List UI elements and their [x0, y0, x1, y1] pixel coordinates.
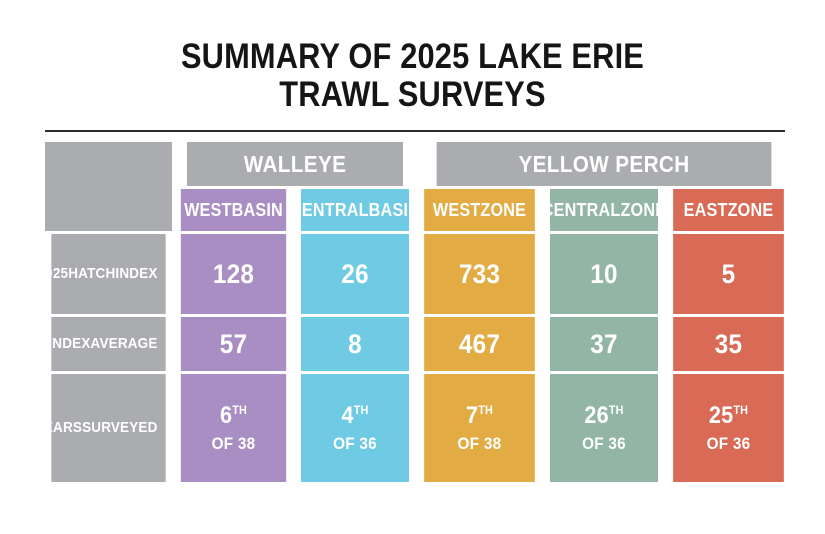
- column-header-line-1: CENTRAL: [301, 201, 369, 220]
- column-header-line-2: BASIN: [232, 201, 283, 220]
- rank-number: 4: [341, 402, 353, 429]
- column-header-perch-west-zone: WEST ZONE: [424, 189, 535, 231]
- rank-suffix: TH: [232, 403, 247, 417]
- table-cell-hatch-walleye-central: 26: [301, 234, 409, 314]
- rank-number: 25: [709, 402, 734, 429]
- column-header-line-1: CENTRAL: [550, 201, 620, 220]
- column-header-line-2: BASIN: [369, 201, 409, 220]
- row-label-line-3: INDEX: [115, 266, 157, 282]
- column-header-line-2: ZONE: [480, 201, 526, 220]
- table-cell-rank-perch-west: 7TH OF 38: [424, 374, 535, 482]
- table-cell-average-walleye-central: 8: [301, 317, 409, 371]
- column-header-line-1: WEST: [184, 201, 232, 220]
- table-cell-average-perch-west: 467: [424, 317, 535, 371]
- page-title: SUMMARY OF 2025 LAKE ERIE TRAWL SURVEYS: [50, 38, 776, 114]
- table-cell-rank-walleye-central: 4TH OF 36: [301, 374, 409, 482]
- table-cell-rank-walleye-west: 6TH OF 38: [181, 374, 286, 482]
- column-header-walleye-central-basin: CENTRAL BASIN: [301, 189, 409, 231]
- table-cell-rank-perch-east: 25TH OF 36: [673, 374, 784, 482]
- rank-suffix: TH: [354, 403, 369, 417]
- rank-of-total: OF 36: [707, 435, 751, 452]
- rank-ordinal: 7TH: [466, 404, 493, 428]
- table-cell-hatch-perch-central: 10: [550, 234, 658, 314]
- rank-of-total: OF 38: [212, 435, 256, 452]
- column-header-perch-central-zone: CENTRAL ZONE: [550, 189, 658, 231]
- row-label-index-average: INDEX AVERAGE: [51, 317, 165, 371]
- rank-of-total: OF 36: [333, 435, 377, 452]
- rank-number: 7: [466, 402, 478, 429]
- rank-of-total: OF 38: [458, 435, 502, 452]
- group-header-yellow-perch: YELLOW PERCH: [437, 142, 772, 186]
- column-header-line-2: ZONE: [620, 201, 658, 220]
- row-label-line-1: 2025: [51, 266, 68, 282]
- row-label-line-4: SURVEYED: [82, 420, 157, 436]
- column-header-walleye-west-basin: WEST BASIN: [181, 189, 286, 231]
- title-divider-rule: [45, 130, 785, 132]
- table-cell-hatch-perch-east: 5: [673, 234, 784, 314]
- column-header-line-2: ZONE: [728, 201, 774, 220]
- infographic-page: SUMMARY OF 2025 LAKE ERIE TRAWL SURVEYS …: [0, 0, 825, 534]
- table-corner-blank: [45, 142, 172, 231]
- table-cell-average-perch-central: 37: [550, 317, 658, 371]
- page-title-line-2: TRAWL SURVEYS: [50, 76, 776, 114]
- table-cell-average-walleye-west: 57: [181, 317, 286, 371]
- column-header-line-1: WEST: [433, 201, 481, 220]
- summary-table: WALLEYE YELLOW PERCH WEST BASIN CENTRAL …: [45, 142, 778, 485]
- group-header-walleye: WALLEYE: [187, 142, 403, 186]
- rank-suffix: TH: [609, 403, 624, 417]
- row-label-hatch-index: 2025 HATCH INDEX: [51, 234, 165, 314]
- rank-ordinal: 26TH: [584, 404, 623, 428]
- row-label-index-rank: INDEX RANK OF YEARS SURVEYED: [51, 374, 165, 482]
- rank-number: 6: [220, 402, 232, 429]
- row-label-line-2: HATCH: [68, 266, 115, 282]
- rank-of-total: OF 36: [582, 435, 626, 452]
- rank-suffix: TH: [478, 403, 493, 417]
- page-title-line-1: SUMMARY OF 2025 LAKE ERIE: [50, 38, 776, 76]
- column-header-line-1: EAST: [684, 201, 728, 220]
- rank-number: 26: [584, 402, 609, 429]
- row-label-line-3: YEARS: [51, 420, 82, 436]
- row-label-line-1: INDEX: [51, 336, 90, 352]
- rank-suffix: TH: [733, 403, 748, 417]
- rank-ordinal: 4TH: [341, 404, 368, 428]
- column-header-perch-east-zone: EAST ZONE: [673, 189, 784, 231]
- table-cell-average-perch-east: 35: [673, 317, 784, 371]
- rank-ordinal: 6TH: [220, 404, 247, 428]
- table-cell-hatch-walleye-west: 128: [181, 234, 286, 314]
- table-cell-rank-perch-central: 26TH OF 36: [550, 374, 658, 482]
- table-cell-hatch-perch-west: 733: [424, 234, 535, 314]
- rank-ordinal: 25TH: [709, 404, 748, 428]
- row-label-line-2: AVERAGE: [91, 336, 158, 352]
